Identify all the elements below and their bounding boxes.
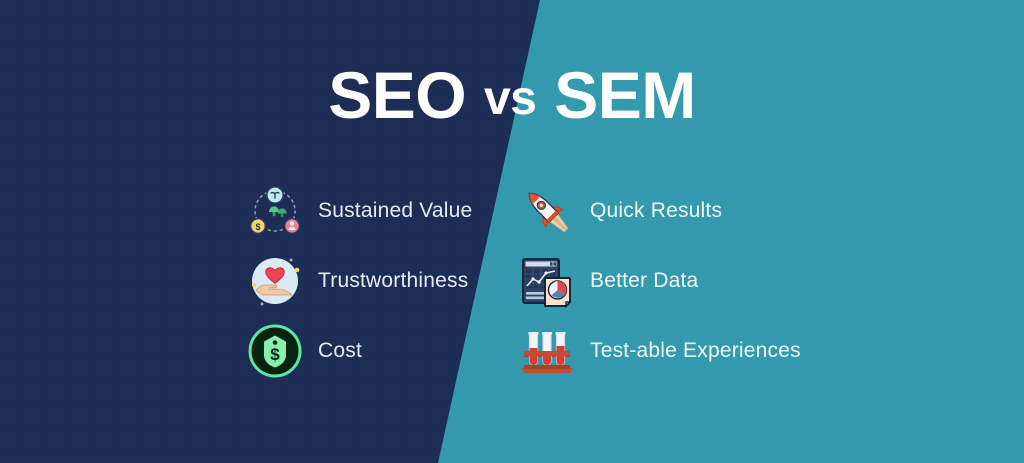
svg-text:$: $ <box>255 222 260 232</box>
svg-text:$: $ <box>270 345 280 364</box>
feature-label: Sustained Value <box>318 199 472 223</box>
list-item: Trustworthiness <box>246 246 472 316</box>
data-chart-icon <box>518 252 576 310</box>
hand-heart-icon <box>246 252 304 310</box>
seo-feature-list: $ Sustained Value <box>246 176 472 386</box>
feature-label: Test-able Experiences <box>590 339 801 363</box>
list-item: $ Cost <box>246 316 472 386</box>
title-seo: SEO <box>328 58 466 132</box>
title-vs: vs <box>484 72 536 125</box>
sustainability-icon: $ <box>246 182 304 240</box>
sem-feature-list: Quick Results <box>518 176 801 386</box>
infographic-canvas: SEO vs SEM <box>0 0 1024 463</box>
page-title: SEO vs SEM <box>0 62 1024 128</box>
test-tubes-icon <box>518 322 576 380</box>
rocket-icon <box>518 182 576 240</box>
list-item: Quick Results <box>518 176 801 246</box>
feature-label: Better Data <box>590 269 698 293</box>
feature-label: Trustworthiness <box>318 269 468 293</box>
list-item: Test-able Experiences <box>518 316 801 386</box>
list-item: Better Data <box>518 246 801 316</box>
feature-label: Cost <box>318 339 362 363</box>
list-item: $ Sustained Value <box>246 176 472 246</box>
title-sem: SEM <box>554 58 696 132</box>
price-tag-icon: $ <box>246 322 304 380</box>
feature-label: Quick Results <box>590 199 722 223</box>
